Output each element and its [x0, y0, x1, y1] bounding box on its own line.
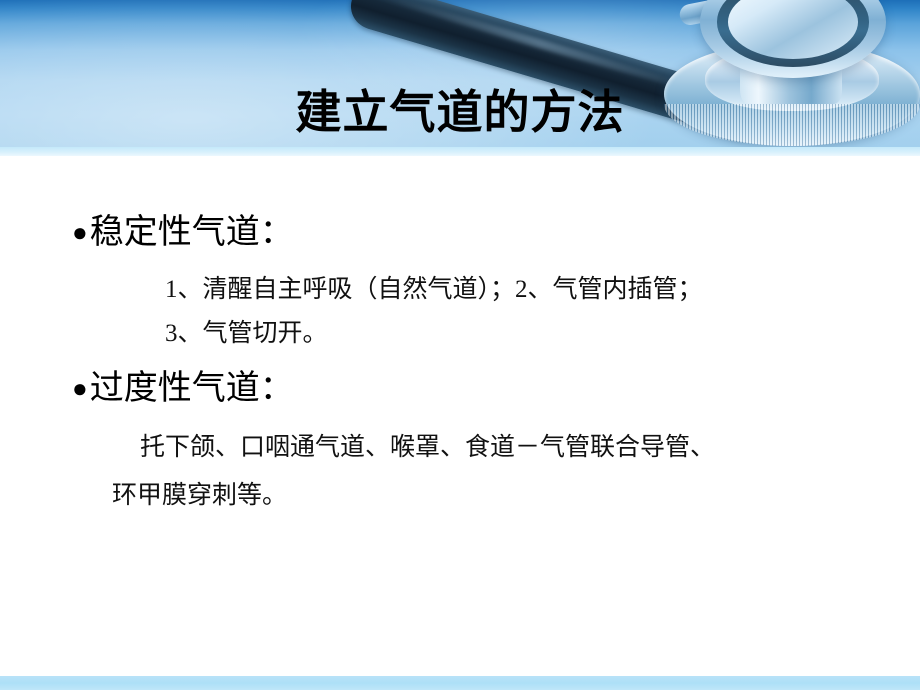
footer-strip — [0, 676, 920, 690]
sub-line-stable-2: 3、气管切开。 — [165, 312, 328, 356]
bullet-heading-stable-airway: 稳定性气道： — [90, 212, 294, 254]
bullet-item-stable-airway: ● 稳定性气道： — [72, 212, 294, 254]
tubing-highlight — [379, 0, 703, 96]
sub-line-stable-1: 1、清醒自主呼吸（自然气道）；2、气管内插管； — [165, 268, 703, 312]
bullet-heading-transitional-airway: 过度性气道： — [90, 368, 294, 410]
sub-line-transitional-2: 环甲膜穿刺等。 — [112, 474, 287, 518]
slide-body: ● 稳定性气道： 1、清醒自主呼吸（自然气道）；2、气管内插管； 3、气管切开。… — [0, 156, 920, 666]
page-title: 建立气道的方法 — [0, 84, 920, 140]
bullet-item-transitional-airway: ● 过度性气道： — [72, 368, 294, 410]
presentation-slide: 建立气道的方法 ● 稳定性气道： 1、清醒自主呼吸（自然气道）；2、气管内插管；… — [0, 0, 920, 690]
bullet-dot-icon: ● — [72, 368, 88, 410]
bullet-dot-icon: ● — [72, 212, 88, 254]
banner-bottom-strip — [0, 147, 920, 156]
sub-line-transitional-1: 托下颌、口咽通气道、喉罩、食道－气管联合导管、 — [140, 426, 715, 470]
